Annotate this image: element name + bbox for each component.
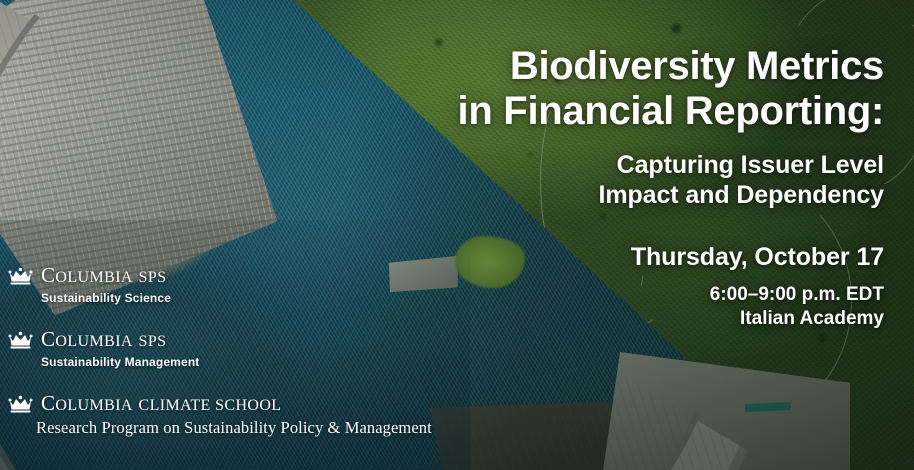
event-title-line-2: in Financial Reporting: <box>344 89 884 134</box>
columbia-crown-icon <box>8 394 33 414</box>
wordmark-cap: C <box>41 263 55 287</box>
logo-row: COLUMBIA CLIMATE SCHOOL <box>8 391 432 416</box>
logo-columbia-sps-sustainability-management[interactable]: COLUMBIA SPS Sustainability Management <box>8 327 432 369</box>
logo-wordmark: COLUMBIA CLIMATE SCHOOL <box>41 391 281 416</box>
columbia-crown-icon <box>8 330 33 350</box>
logo-program-name: Research Program on Sustainability Polic… <box>36 418 432 438</box>
logo-stack: COLUMBIA SPS Sustainability Science COLU… <box>8 263 432 438</box>
logo-row: COLUMBIA SPS <box>8 263 432 288</box>
wordmark-rest: OLUMBIA <box>55 397 132 414</box>
wordmark-unit: CLIMATE SCHOOL <box>139 397 282 414</box>
logo-wordmark: COLUMBIA SPS <box>41 263 166 288</box>
logo-columbia-sps-sustainability-science[interactable]: COLUMBIA SPS Sustainability Science <box>8 263 432 305</box>
logo-row: COLUMBIA SPS <box>8 327 432 352</box>
event-subtitle-line-2: Impact and Dependency <box>344 180 884 211</box>
logo-columbia-climate-school[interactable]: COLUMBIA CLIMATE SCHOOL Research Program… <box>8 391 432 438</box>
event-title-line-1: Biodiversity Metrics <box>344 44 884 89</box>
wordmark-rest: OLUMBIA <box>55 333 132 350</box>
wordmark-cap: C <box>41 327 55 351</box>
event-banner: Biodiversity Metrics in Financial Report… <box>0 0 914 470</box>
event-title: Biodiversity Metrics in Financial Report… <box>344 44 884 134</box>
columbia-crown-icon <box>8 266 33 286</box>
wordmark-unit: SPS <box>139 269 167 286</box>
logo-program-name: Sustainability Management <box>41 355 432 369</box>
logo-program-name: Sustainability Science <box>41 291 432 305</box>
wordmark-rest: OLUMBIA <box>55 269 132 286</box>
logo-wordmark: COLUMBIA SPS <box>41 327 166 352</box>
wordmark-cap: C <box>41 391 55 415</box>
event-subtitle: Capturing Issuer Level Impact and Depend… <box>344 150 884 211</box>
event-subtitle-line-1: Capturing Issuer Level <box>344 150 884 181</box>
wordmark-unit: SPS <box>139 333 167 350</box>
